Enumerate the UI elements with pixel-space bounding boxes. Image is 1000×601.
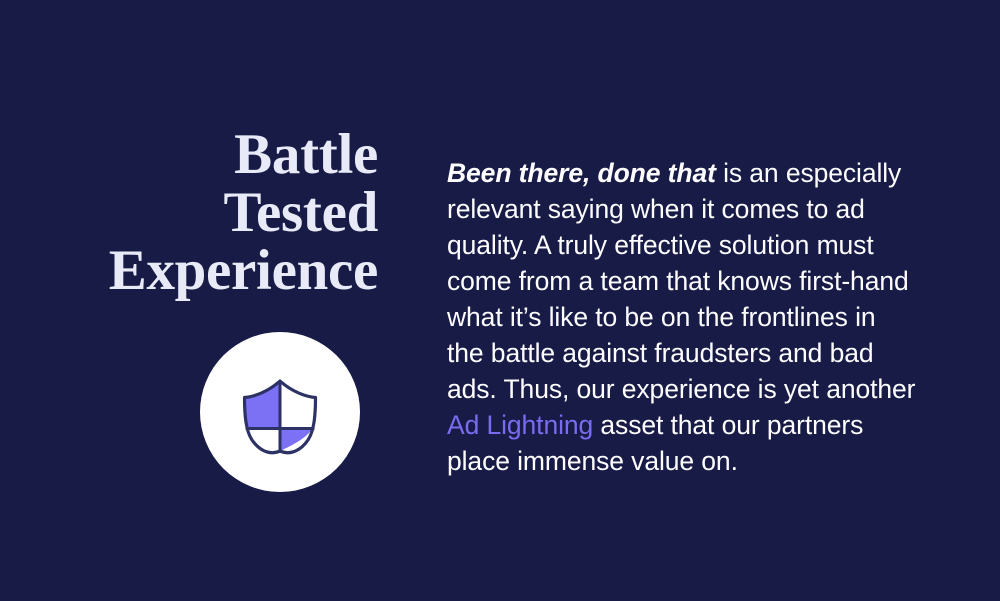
shield-icon: [200, 332, 360, 492]
shield-badge: [200, 332, 360, 492]
body-paragraph: Been there, done that is an especially r…: [447, 155, 917, 479]
page-title: Battle Tested Experience: [38, 126, 378, 300]
lead-phrase: Been there, done that: [447, 158, 716, 188]
body-column: Been there, done that is an especially r…: [447, 128, 917, 505]
slide-root: Battle Tested Experience: [0, 0, 1000, 601]
brand-name: Ad Lightning: [447, 410, 593, 440]
body-text-before-brand: is an especially relevant saying when it…: [447, 158, 915, 404]
left-column: Battle Tested Experience: [0, 0, 400, 601]
